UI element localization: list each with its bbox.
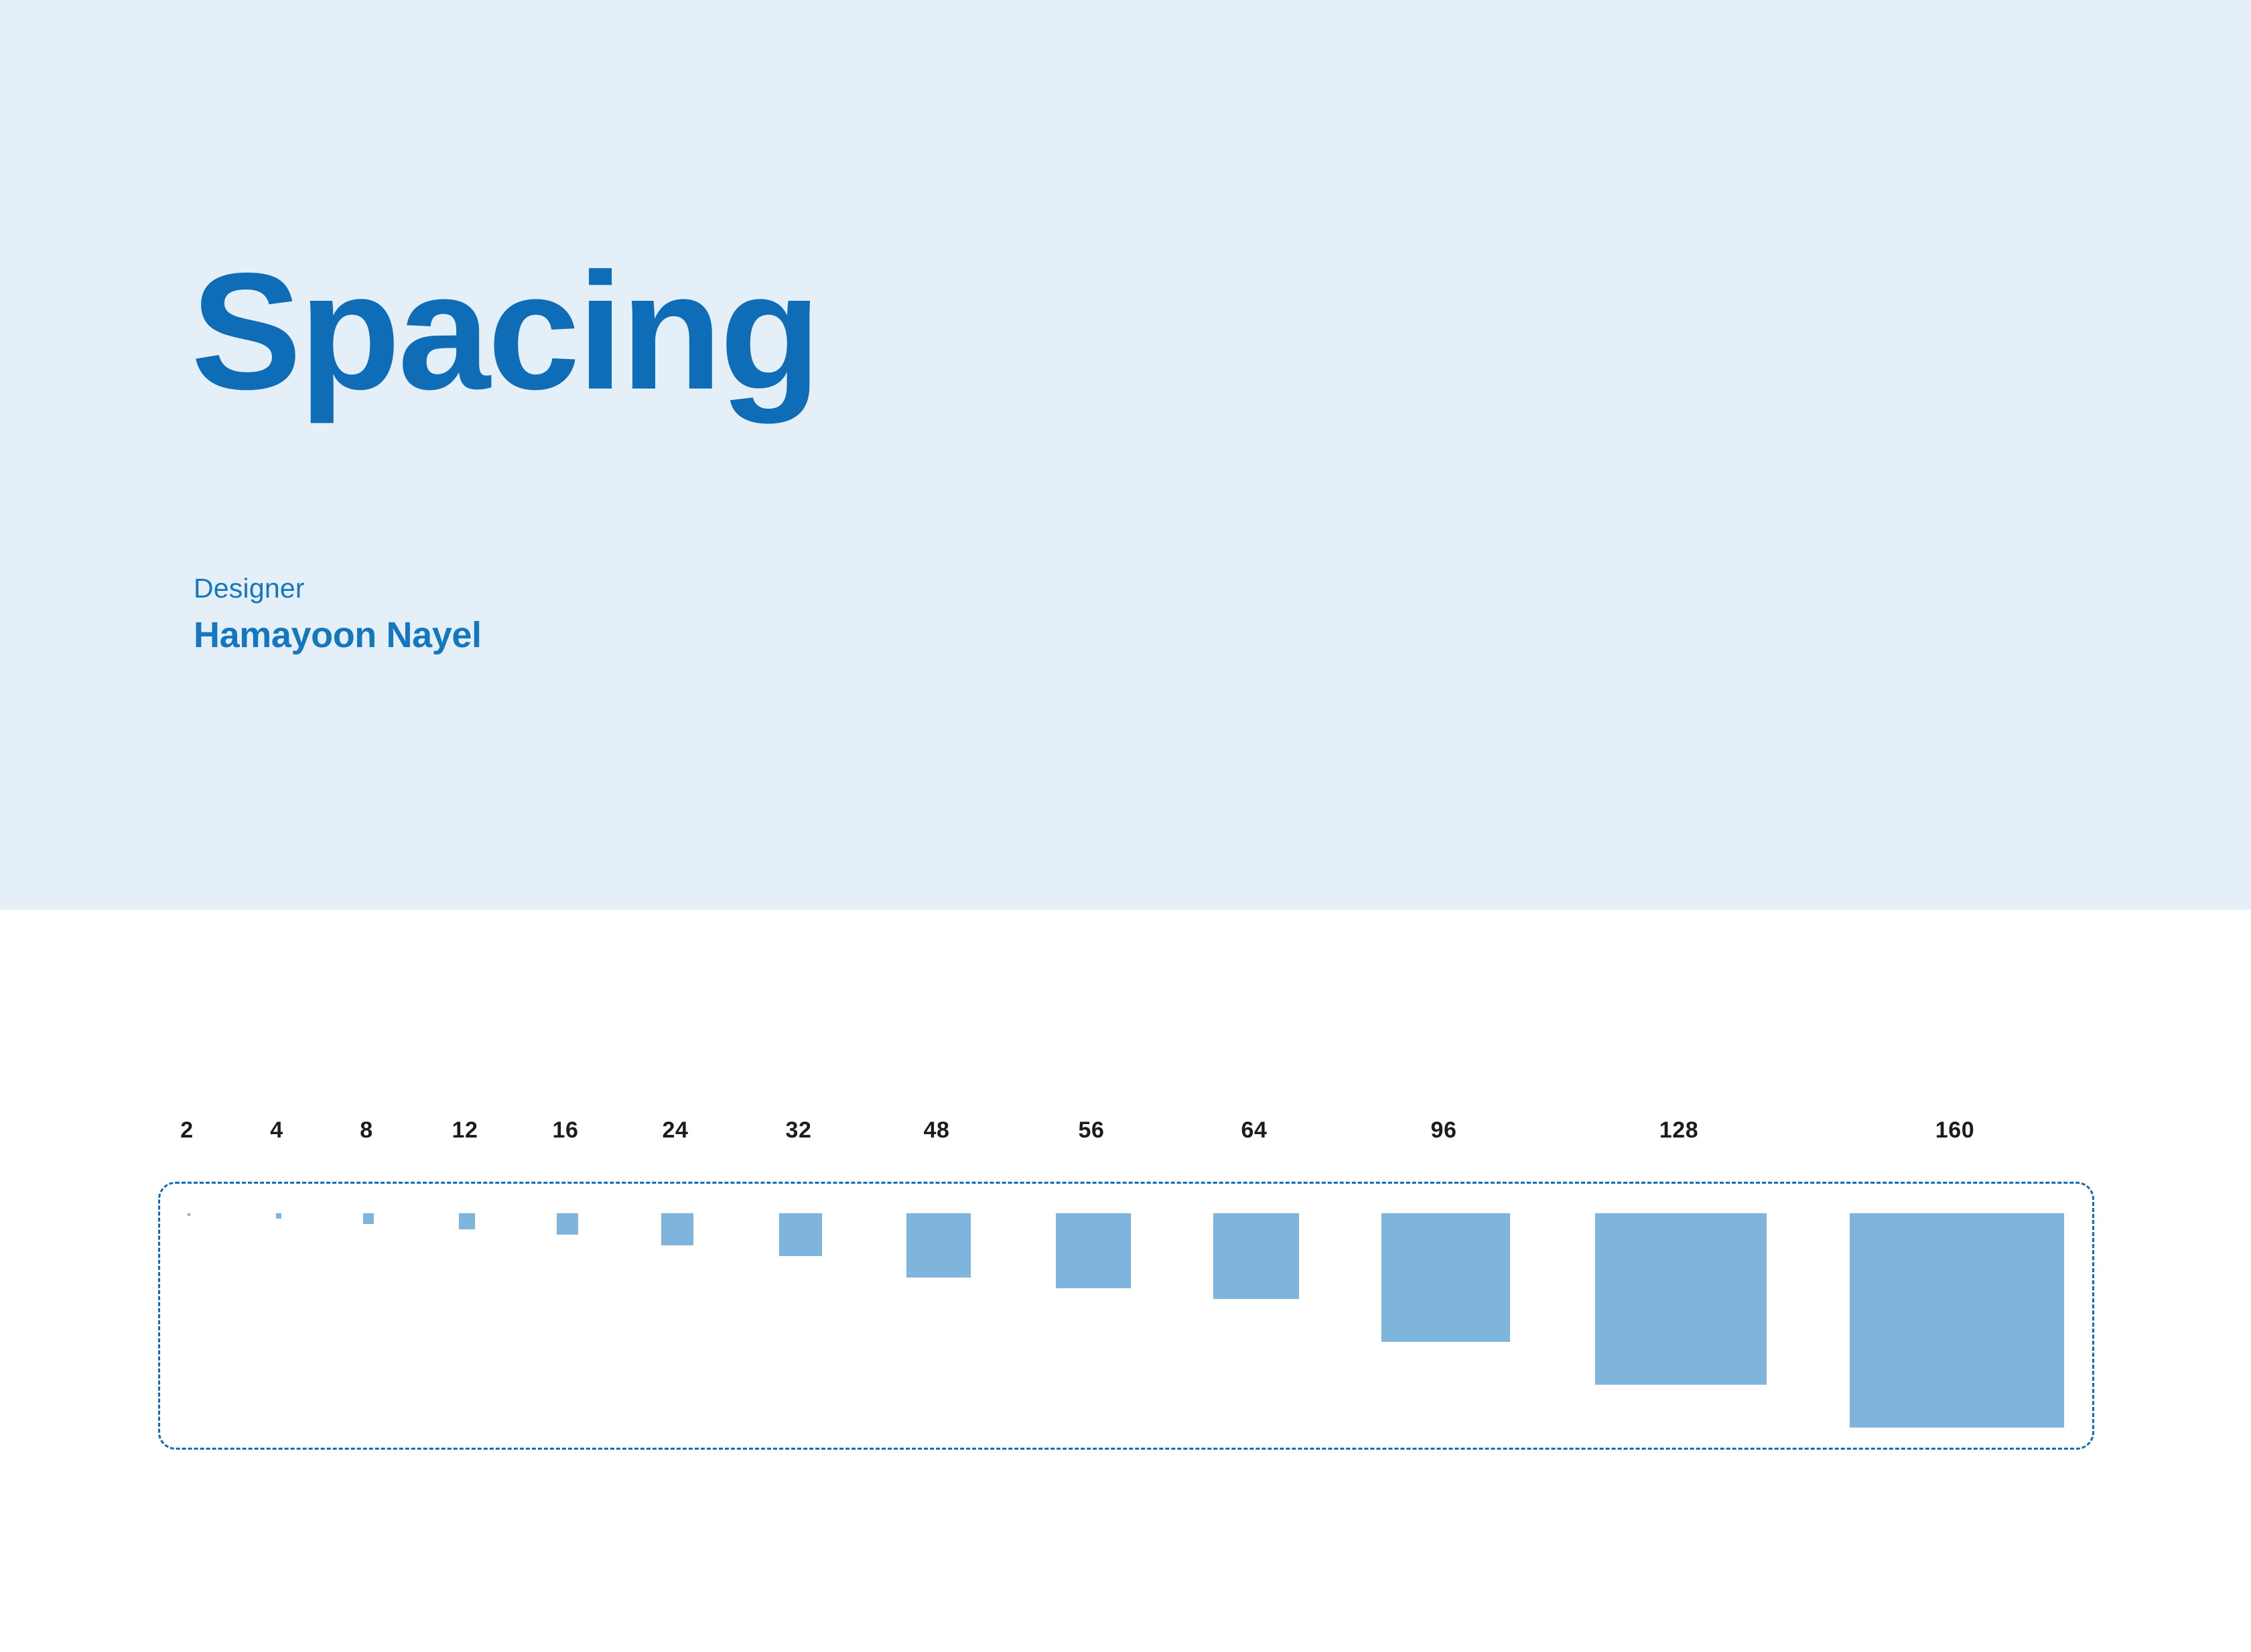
spacing-swatch-96 [1381,1213,1510,1342]
designer-credit-block: Designer Hamayoon Nayel [194,571,482,657]
spacing-token-label-12: 12 [452,1117,478,1144]
spacing-swatch-12 [459,1213,475,1229]
spacing-swatch-4 [276,1213,281,1219]
spacing-swatch-64 [1213,1213,1299,1299]
spacing-token-label-4: 4 [270,1117,283,1144]
spacing-swatch-2 [188,1213,190,1216]
designer-name: Hamayoon Nayel [194,614,482,657]
page-title: Spacing [191,248,819,414]
spacing-swatch-48 [906,1213,971,1278]
spacing-swatch-160 [1850,1213,2064,1428]
spacing-swatch-56 [1056,1213,1131,1288]
spacing-token-label-24: 24 [662,1117,688,1144]
spacing-token-label-160: 160 [1935,1117,1975,1144]
spacing-token-label-48: 48 [923,1117,949,1144]
spacing-token-label-32: 32 [785,1117,811,1144]
spacing-token-label-128: 128 [1659,1117,1699,1144]
spacing-scale-section: 2481216243248566496128160 [0,910,2251,1652]
spacing-token-label-2: 2 [180,1117,194,1144]
spacing-swatch-32 [779,1213,822,1256]
spacing-token-label-8: 8 [360,1117,373,1144]
spacing-token-label-56: 56 [1078,1117,1104,1144]
designer-role-label: Designer [194,571,482,606]
spacing-swatch-16 [557,1213,578,1235]
spacing-swatch-128 [1595,1213,1767,1385]
spacing-swatch-24 [661,1213,693,1245]
header-band: Spacing Designer Hamayoon Nayel [0,0,2251,910]
spacing-swatch-8 [363,1213,374,1224]
spacing-token-label-16: 16 [552,1117,578,1144]
spacing-token-label-64: 64 [1241,1117,1267,1144]
spacing-scale-container [158,1182,2094,1450]
spacing-token-label-96: 96 [1430,1117,1456,1144]
